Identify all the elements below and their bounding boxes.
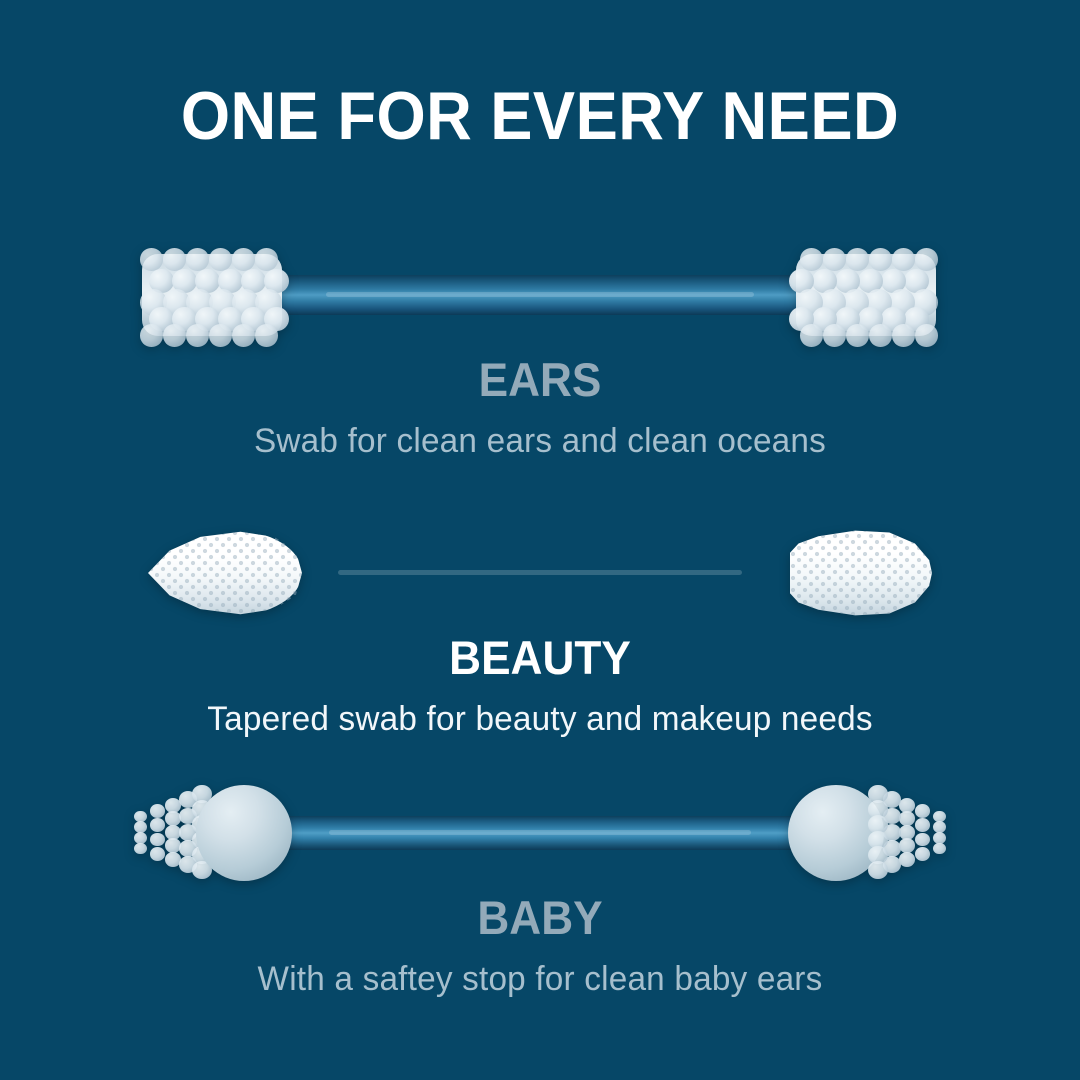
category-title-ears: EARS xyxy=(32,356,1047,403)
swab-illustration-ears xyxy=(0,240,1080,350)
section-ears: EARS Swab for clean ears and clean ocean… xyxy=(0,240,1080,460)
section-baby: BABY With a saftey stop for clean baby e… xyxy=(0,778,1080,998)
section-beauty: BEAUTY Tapered swab for beauty and makeu… xyxy=(0,518,1080,738)
swab-tip-right xyxy=(790,527,932,619)
page-title: ONE FOR EVERY NEED xyxy=(38,82,1042,150)
category-description-baby: With a saftey stop for clean baby ears xyxy=(11,961,1069,998)
swab-tip-left xyxy=(142,254,282,336)
category-title-baby: BABY xyxy=(32,894,1047,941)
swab-tip-right xyxy=(796,254,936,336)
swab-tip-right xyxy=(788,781,948,885)
swab-illustration-baby xyxy=(0,778,1080,888)
category-title-beauty: BEAUTY xyxy=(32,634,1047,681)
category-description-ears: Swab for clean ears and clean oceans xyxy=(11,423,1069,460)
swab-stick xyxy=(272,275,808,315)
swab-tip-left xyxy=(148,530,302,616)
swab-stick xyxy=(288,553,792,593)
product-infographic: ONE FOR EVERY NEED EARS Swab for clean e… xyxy=(0,0,1080,1080)
swab-illustration-beauty xyxy=(0,518,1080,628)
swab-stick xyxy=(276,816,804,850)
swab-tip-left xyxy=(132,781,292,885)
category-description-beauty: Tapered swab for beauty and makeup needs xyxy=(11,701,1069,738)
